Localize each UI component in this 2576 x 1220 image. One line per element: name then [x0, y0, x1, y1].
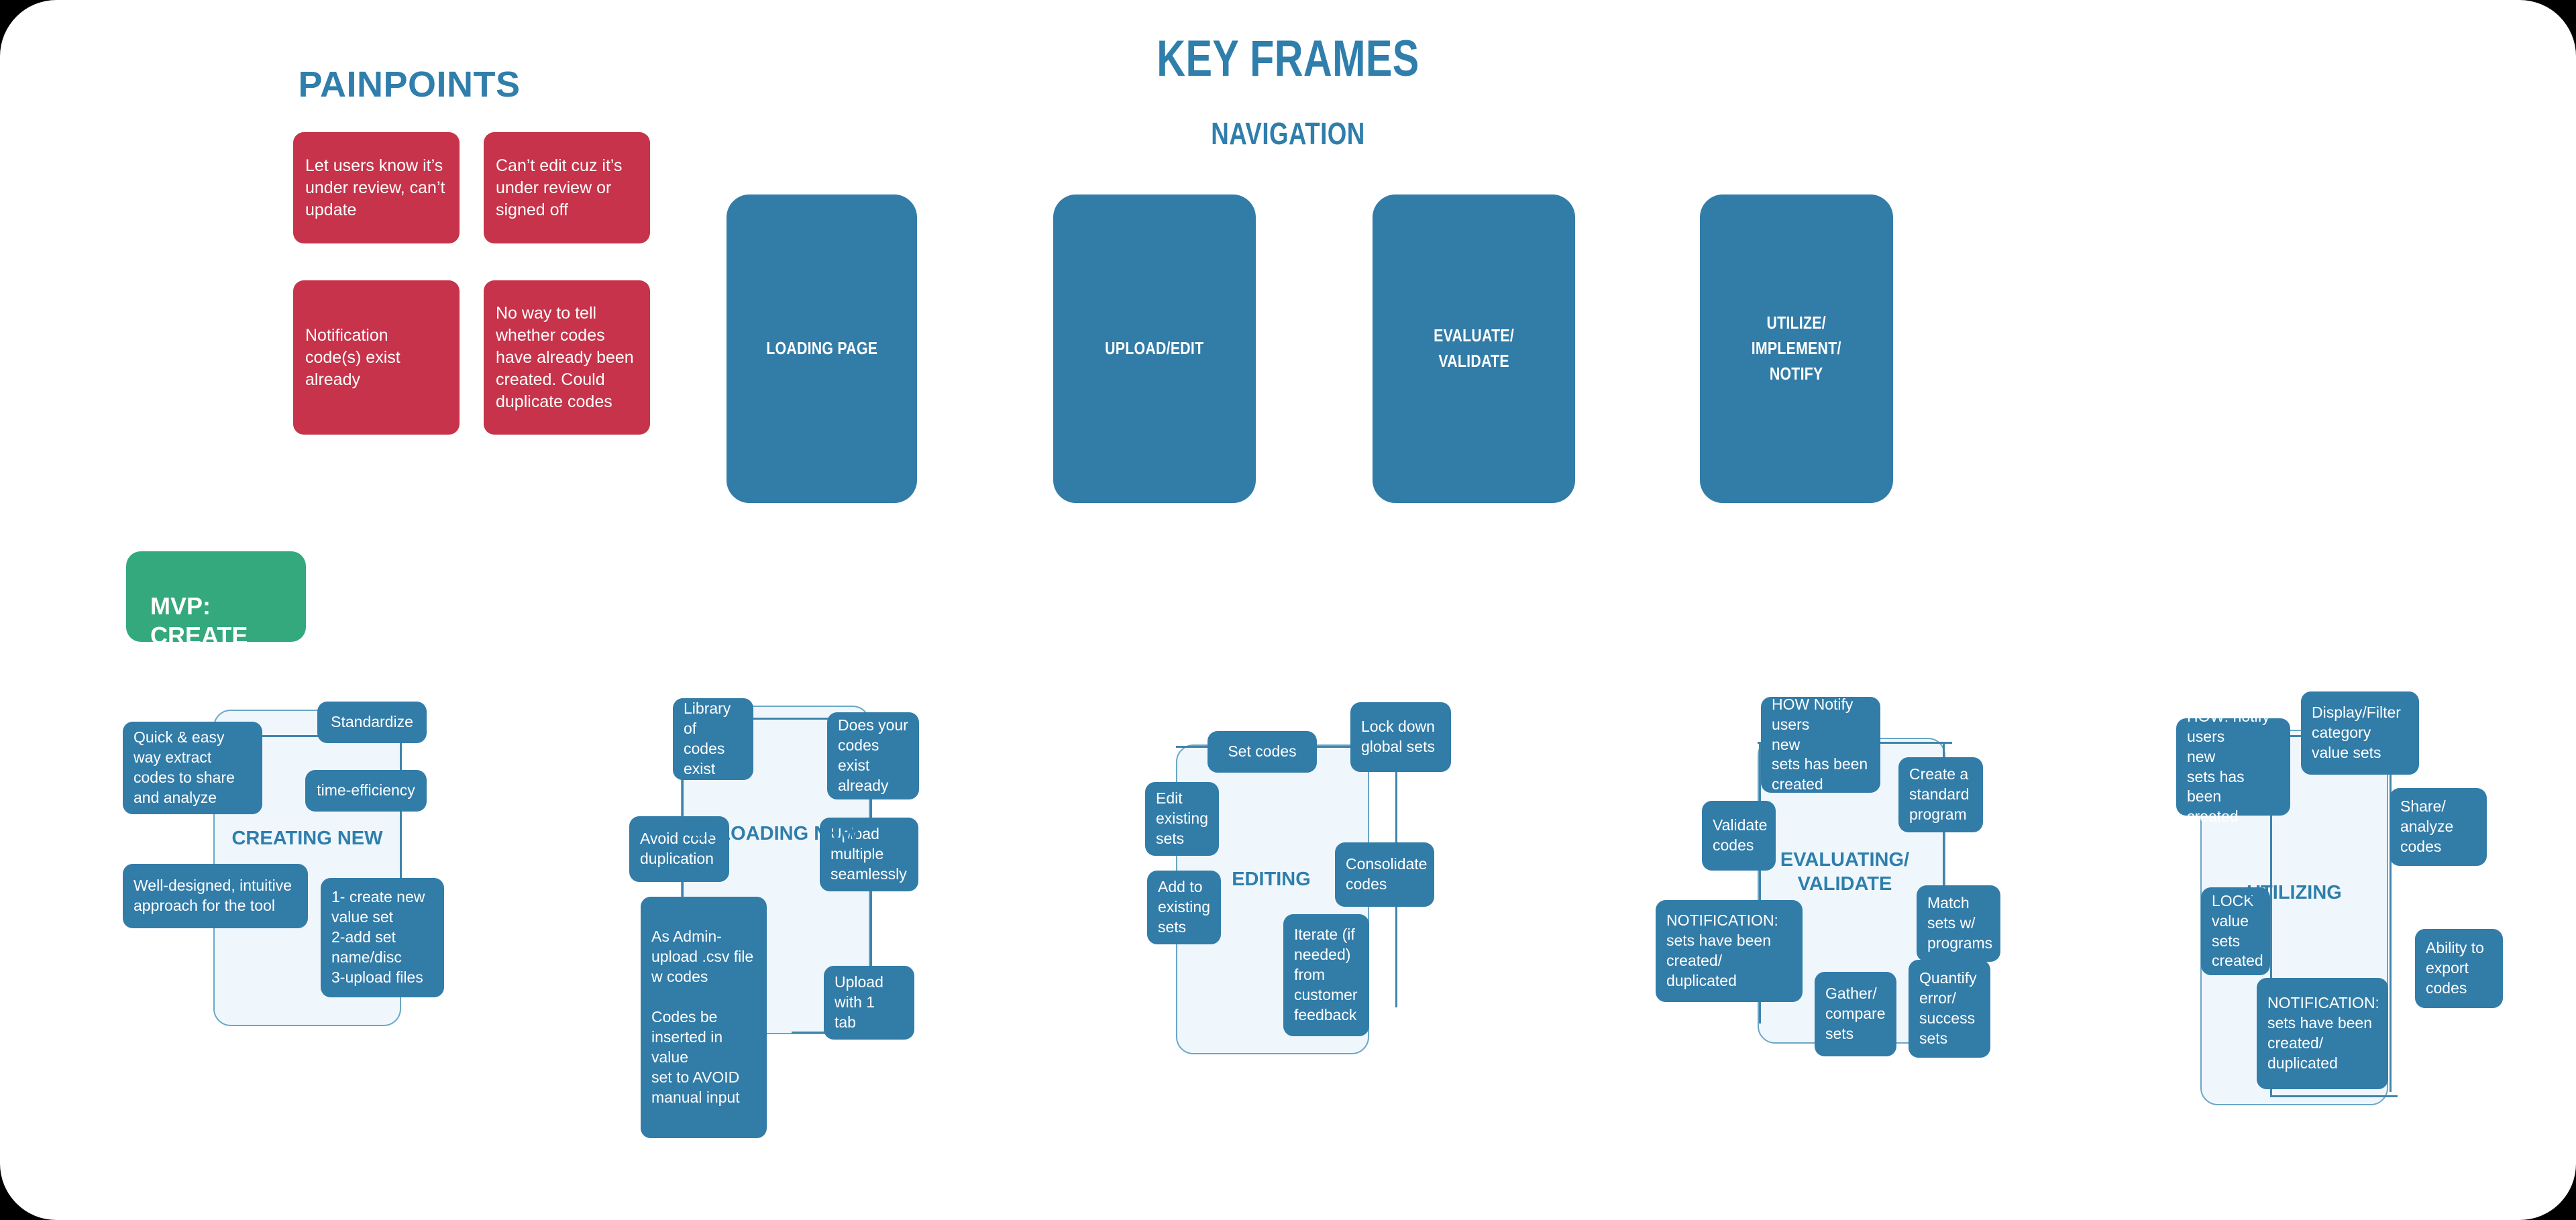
nav-frame-evaluate-validate[interactable]: EVALUATE/ VALIDATE — [1373, 195, 1575, 503]
idea-node[interactable]: Well-designed, intuitive approach for th… — [123, 864, 308, 928]
painpoint-text: No way to tell whether codes have alread… — [496, 302, 638, 413]
idea-node[interactable]: Consolidate codes — [1335, 842, 1434, 907]
idea-node[interactable]: As Admin- upload .csv file w codes Codes… — [641, 897, 767, 1138]
idea-node[interactable]: Share/ analyze codes — [2390, 788, 2487, 866]
nav-frame-loading-page[interactable]: LOADING PAGE — [727, 195, 917, 503]
cluster-label-utilizing: UTILIZING — [2200, 881, 2388, 905]
idea-node[interactable]: Iterate (if needed) from customer feedba… — [1283, 914, 1369, 1036]
idea-text: Display/Filter category value sets — [2312, 703, 2401, 763]
idea-node[interactable]: time-efficiency — [305, 770, 427, 812]
idea-node[interactable]: Ability to export codes — [2415, 929, 2503, 1008]
idea-node[interactable]: Edit existing sets — [1145, 782, 1219, 856]
painpoint-card[interactable]: Can’t edit cuz it’s under review or sign… — [484, 132, 650, 243]
idea-text: Create a standard program — [1909, 765, 1970, 825]
idea-text: Does your codes exist already — [838, 716, 908, 796]
idea-node[interactable]: Gather/ compare sets — [1815, 972, 1896, 1056]
idea-text: Quantify error/ success sets — [1919, 968, 1977, 1049]
idea-node[interactable]: Lock down global sets — [1350, 702, 1451, 772]
cluster-label-creating-new: CREATING NEW — [213, 826, 401, 850]
idea-text: Lock down global sets — [1361, 717, 1435, 757]
mvp-label: MVP: CREATE CODES — [150, 592, 248, 679]
idea-node[interactable]: Quantify error/ success sets — [1909, 960, 1990, 1058]
idea-text: Iterate (if needed) from customer feedba… — [1294, 925, 1358, 1025]
page-title: KEY FRAMES — [1053, 30, 1523, 88]
painpoint-text: Let users know it’s under review, can’t … — [305, 155, 447, 221]
painpoint-card[interactable]: Let users know it’s under review, can’t … — [293, 132, 460, 243]
idea-text: NOTIFICATION: sets have been created/ du… — [1666, 911, 1778, 991]
painpoint-card[interactable]: No way to tell whether codes have alread… — [484, 280, 650, 435]
idea-node[interactable]: Quick & easy way extract codes to share … — [123, 722, 262, 814]
nav-frame-label: EVALUATE/ VALIDATE — [1434, 323, 1514, 374]
nav-frame-label: UPLOAD/EDIT — [1105, 336, 1203, 362]
idea-node[interactable]: HOW: notify users new sets has been crea… — [2176, 718, 2290, 816]
nav-frame-utilize-implement-notify[interactable]: UTILIZE/ IMPLEMENT/ NOTIFY — [1700, 195, 1893, 503]
idea-text: Add to existing sets — [1158, 877, 1210, 938]
nav-frame-upload-edit[interactable]: UPLOAD/EDIT — [1053, 195, 1256, 503]
idea-text: Set codes — [1228, 742, 1296, 762]
whiteboard-canvas: KEY FRAMES NAVIGATION PAINPOINTS Let use… — [0, 0, 2576, 1220]
idea-text: Ability to export codes — [2426, 938, 2484, 999]
idea-node[interactable]: 1- create new value set 2-add set name/d… — [321, 878, 444, 997]
idea-node[interactable]: Display/Filter category value sets — [2301, 691, 2419, 775]
idea-text: Share/ analyze codes — [2400, 797, 2453, 857]
idea-text: Library of codes exist — [684, 699, 731, 779]
idea-node[interactable]: Does your codes exist already — [827, 712, 919, 799]
idea-text: Consolidate codes — [1346, 854, 1427, 895]
mvp-create-codes-badge[interactable]: MVP: CREATE CODES — [126, 551, 306, 642]
idea-node[interactable]: Set codes — [1207, 731, 1317, 773]
idea-node[interactable]: Library of codes exist — [673, 698, 753, 780]
cluster-label-uploading-new: UPLOADING NEW — [681, 822, 870, 846]
idea-text: Gather/ compare sets — [1825, 984, 1885, 1044]
idea-text: 1- create new value set 2-add set name/d… — [331, 887, 425, 987]
idea-node[interactable]: Upload with 1 tab — [824, 966, 914, 1040]
idea-text: As Admin- upload .csv file w codes Codes… — [651, 927, 756, 1107]
idea-node[interactable]: Create a standard program — [1898, 757, 1983, 832]
idea-text: Quick & easy way extract codes to share … — [133, 728, 235, 808]
idea-node[interactable]: NOTIFICATION: sets have been created/ du… — [1656, 900, 1803, 1002]
nav-frame-label: UTILIZE/ IMPLEMENT/ NOTIFY — [1752, 311, 1841, 386]
idea-text: HOW Notify users new sets has been creat… — [1772, 695, 1868, 795]
idea-node[interactable]: HOW Notify users new sets has been creat… — [1761, 697, 1880, 793]
navigation-section-title: NAVIGATION — [1046, 115, 1529, 152]
painpoint-card[interactable]: Notification code(s) exist already — [293, 280, 460, 435]
idea-node[interactable]: NOTIFICATION: sets have been created/ du… — [2257, 978, 2388, 1089]
cluster-label-evaluating-validate: EVALUATING/ VALIDATE — [1751, 848, 1939, 897]
idea-node[interactable]: Match sets w/ programs — [1917, 885, 2000, 962]
idea-text: NOTIFICATION: sets have been created/ du… — [2267, 993, 2379, 1074]
idea-text: Standardize — [331, 712, 413, 732]
idea-text: Upload with 1 tab — [835, 973, 883, 1033]
nav-frame-label: LOADING PAGE — [766, 336, 877, 362]
painpoint-text: Can’t edit cuz it’s under review or sign… — [496, 155, 638, 221]
connector — [2270, 1095, 2398, 1097]
idea-text: Match sets w/ programs — [1927, 893, 1992, 954]
cluster-label-editing: EDITING — [1207, 867, 1335, 891]
painpoint-text: Notification code(s) exist already — [305, 325, 447, 391]
idea-text: Well-designed, intuitive approach for th… — [133, 876, 292, 916]
idea-text: Edit existing sets — [1156, 789, 1208, 849]
idea-text: time-efficiency — [317, 781, 415, 801]
idea-node[interactable]: Standardize — [317, 702, 427, 743]
painpoints-section-title: PAINPOINTS — [174, 64, 644, 105]
idea-text: HOW: notify users new sets has been crea… — [2187, 707, 2279, 827]
